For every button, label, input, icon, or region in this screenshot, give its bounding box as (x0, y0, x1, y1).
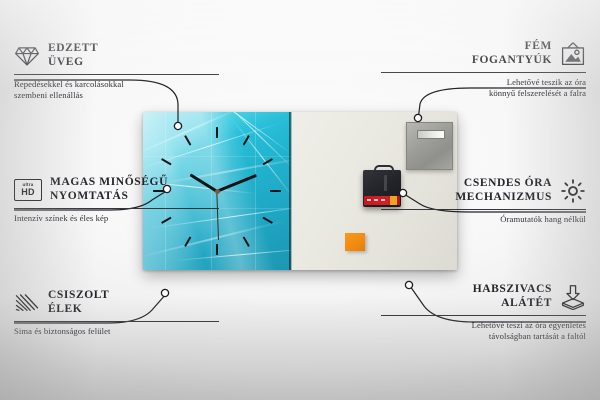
divider (381, 72, 586, 73)
hanger-slot (417, 130, 445, 139)
feature-desc: Intenzív színek és éles kép (14, 213, 219, 224)
infographic-canvas: EDZETT ÜVEG Repedésekkel és karcolásokka… (0, 0, 600, 400)
feature-title: CSISZOLT (48, 289, 109, 303)
clock-marker (243, 135, 250, 146)
clock-marker (184, 236, 191, 247)
divider (381, 315, 586, 316)
feature-title: FÉM (472, 40, 552, 54)
foam-spacer-pad (345, 233, 365, 251)
clock-minute-hand (216, 174, 256, 192)
feature-polished-edges[interactable]: CSISZOLT ÉLEK Sima és biztonságos felüle… (14, 289, 219, 337)
feature-silent-mechanism[interactable]: CSENDES ÓRA MECHANIZMUS (381, 177, 586, 225)
clock-marker (262, 217, 273, 224)
clock-marker (161, 158, 172, 165)
feature-desc-2: szembeni ellenállás (14, 90, 219, 101)
feature-desc-2: távolságban tartását a faltól (381, 331, 586, 342)
clock-marker (262, 158, 273, 165)
metal-hanger-plate (406, 122, 453, 170)
gear-icon (560, 178, 586, 204)
polished-edge-icon (14, 290, 40, 316)
clock-marker (216, 244, 218, 255)
feature-title: MAGAS MINŐSÉGŰ (50, 176, 168, 190)
foam-pad-arrow-icon (560, 284, 586, 310)
feature-desc: Sima és biztonságos felület (14, 326, 219, 337)
feature-title: HABSZIVACS (473, 283, 552, 297)
feature-desc: Óramutatók hang nélkül (381, 214, 586, 225)
feature-title-2: ALÁTÉT (473, 297, 552, 311)
feature-tempered-glass[interactable]: EDZETT ÜVEG Repedésekkel és karcolásokka… (14, 42, 219, 101)
feature-desc-2: könnyű felszerelését a falra (381, 88, 586, 99)
feature-title-2: ÜVEG (48, 56, 98, 70)
feature-title: CSENDES ÓRA (455, 177, 552, 191)
ultra-hd-icon-large-text: HD (21, 188, 34, 197)
clock-marker (270, 190, 281, 192)
feature-foam-spacer[interactable]: HABSZIVACS ALÁTÉT Lehetővé teszi az óra … (381, 283, 586, 342)
panel-seam (289, 112, 292, 270)
feature-title: EDZETT (48, 42, 98, 56)
feature-title-2: FOGANTYÚK (472, 54, 552, 68)
mechanism-handle (374, 165, 394, 174)
feature-title-2: ÉLEK (48, 303, 109, 317)
divider (14, 208, 219, 209)
clock-marker (243, 236, 250, 247)
diamond-icon (14, 43, 40, 69)
feature-title-2: NYOMTATÁS (50, 190, 168, 204)
divider (14, 321, 219, 322)
clock-marker (184, 135, 191, 146)
picture-frame-icon (560, 41, 586, 67)
feature-desc: Lehetővé teszi az óra egyenletes (381, 320, 586, 331)
feature-metal-handles[interactable]: FÉM FOGANTYÚK Lehetővé teszik az óra kön… (381, 40, 586, 99)
divider (14, 74, 219, 75)
ultra-hd-icon: ultra HD (14, 179, 42, 201)
feature-title-2: MECHANIZMUS (455, 191, 552, 205)
divider (381, 209, 586, 210)
feature-desc: Lehetővé teszik az óra (381, 77, 586, 88)
clock-marker (216, 127, 218, 138)
feature-desc: Repedésekkel és karcolásokkal (14, 79, 219, 90)
feature-high-quality-print[interactable]: ultra HD MAGAS MINŐSÉGŰ NYOMTATÁS Intenz… (14, 176, 219, 224)
